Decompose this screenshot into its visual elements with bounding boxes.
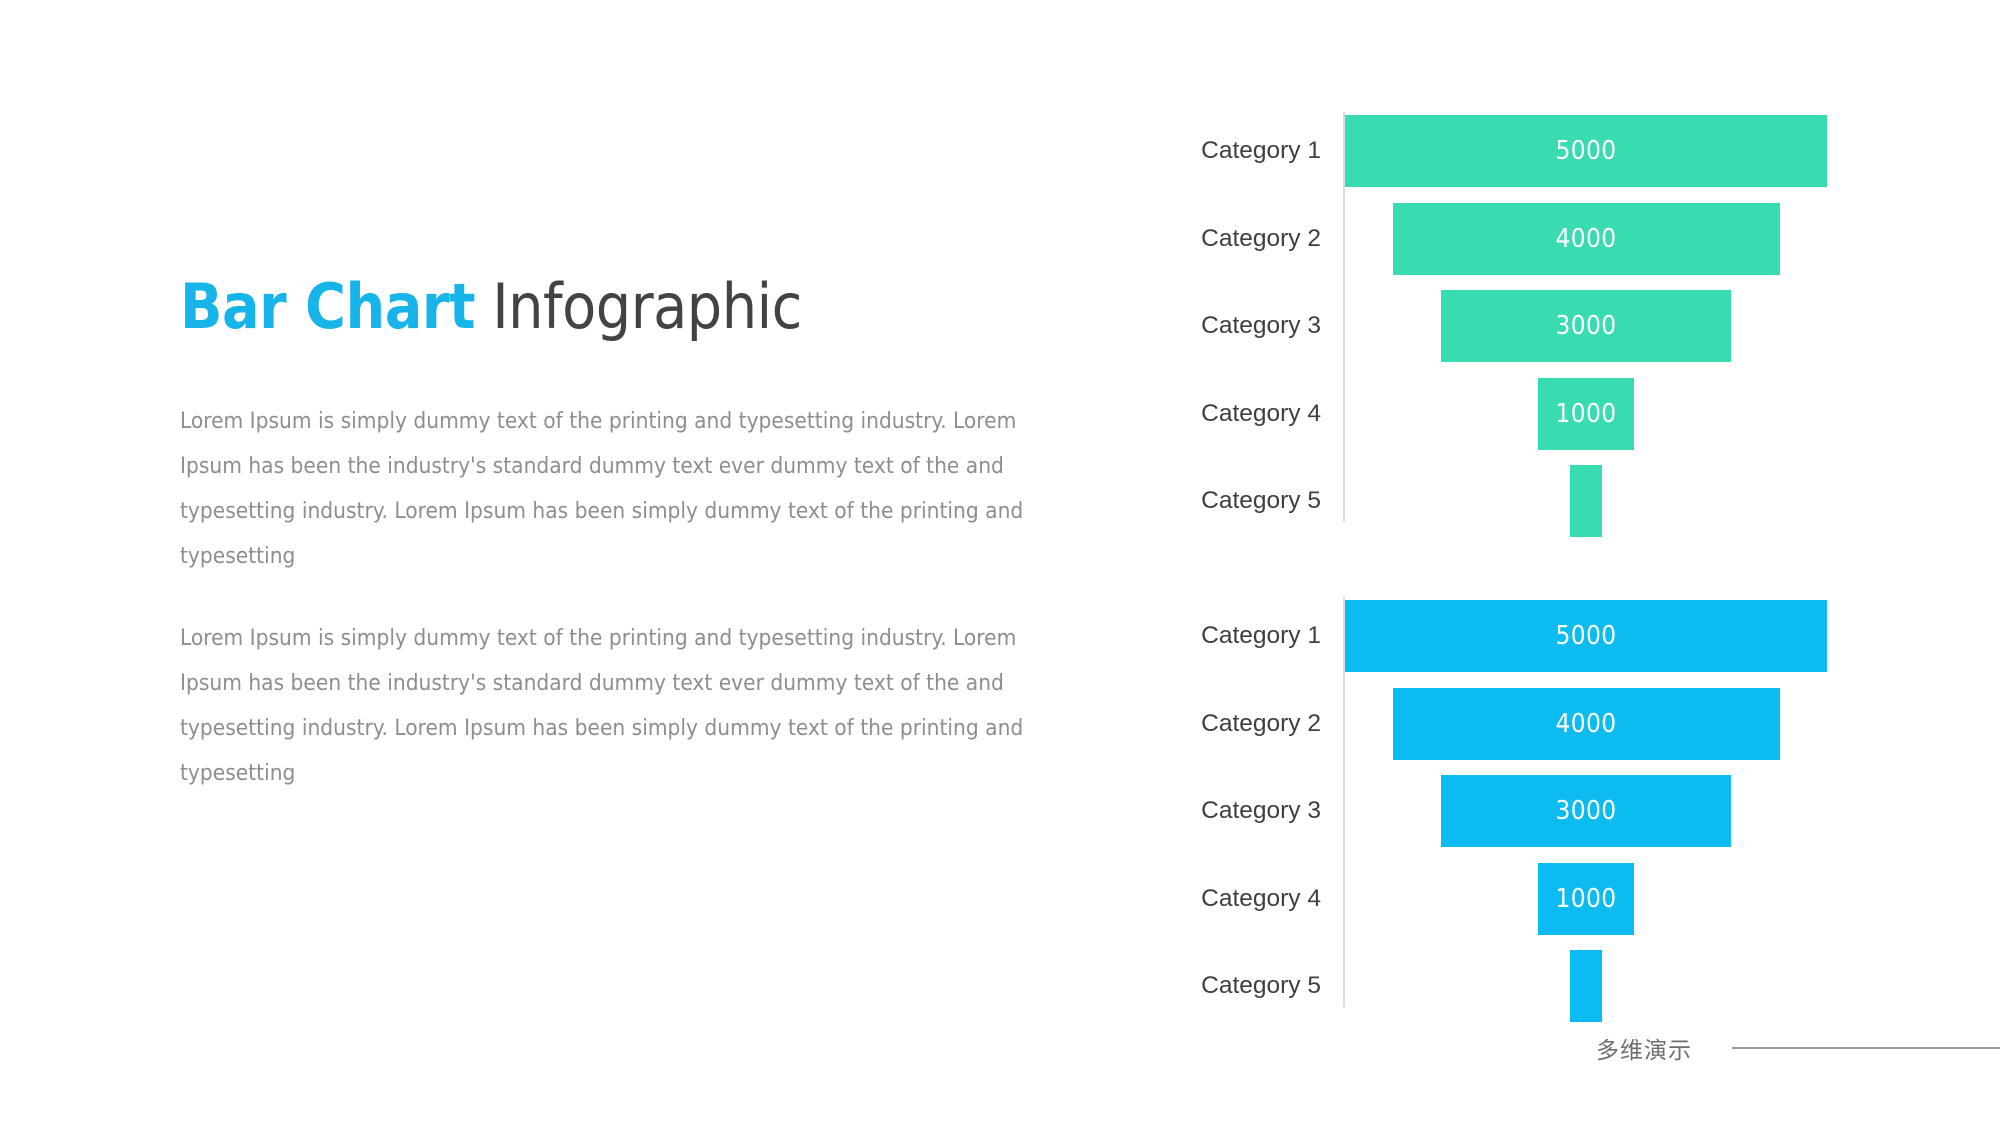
category-label: Category 2: [1195, 203, 1321, 275]
bar-segment[interactable]: 1000: [1538, 863, 1634, 935]
footer: 多维演示: [1596, 1031, 2000, 1065]
paragraph-2: Lorem Ipsum is simply dummy text of the …: [180, 616, 1060, 796]
paragraph-1: Lorem Ipsum is simply dummy text of the …: [180, 399, 1060, 579]
chart-row: Category 3 3000: [1195, 775, 1895, 847]
category-label: Category 5: [1195, 950, 1321, 1022]
page-title-rest: Infographic: [475, 270, 802, 343]
bar-wrapper: 4000: [1345, 688, 1827, 760]
chart-row: Category 1 5000: [1195, 600, 1895, 672]
bar-wrapper: 3000: [1345, 775, 1827, 847]
chart-row: Category 2 4000: [1195, 203, 1895, 275]
category-label: Category 4: [1195, 378, 1321, 450]
page-title: Bar Chart Infographic: [180, 272, 1110, 341]
bar-wrapper: 4000: [1345, 203, 1827, 275]
chart-row: Category 5: [1195, 465, 1895, 537]
bar-wrapper: 1000: [1345, 378, 1827, 450]
chart-row: Category 4 1000: [1195, 863, 1895, 935]
bar-track: 5000: [1345, 600, 1895, 672]
category-label: Category 4: [1195, 863, 1321, 935]
bar-segment[interactable]: 5000: [1345, 115, 1827, 187]
chart-row: Category 3 3000: [1195, 290, 1895, 362]
bar-segment[interactable]: [1570, 950, 1602, 1022]
footer-brand-text: 多维演示: [1596, 1031, 1692, 1065]
bar-segment[interactable]: [1570, 465, 1602, 537]
category-label: Category 5: [1195, 465, 1321, 537]
bar-segment[interactable]: 4000: [1393, 688, 1780, 760]
bar-wrapper: [1345, 465, 1827, 537]
bar-segment[interactable]: 5000: [1345, 600, 1827, 672]
bar-segment[interactable]: 4000: [1393, 203, 1780, 275]
body-copy: Lorem Ipsum is simply dummy text of the …: [180, 399, 1110, 796]
category-label: Category 3: [1195, 775, 1321, 847]
bar-wrapper: 5000: [1345, 600, 1827, 672]
chart-row: Category 5: [1195, 950, 1895, 1022]
bar-track: 1000: [1345, 378, 1895, 450]
bar-segment[interactable]: 3000: [1441, 290, 1731, 362]
bar-chart-green: Category 1 5000 Category 2 4000 Category…: [1195, 112, 1895, 522]
bar-wrapper: 5000: [1345, 115, 1827, 187]
bar-track: 4000: [1345, 688, 1895, 760]
bar-track: [1345, 950, 1895, 1022]
chart-plot-area: Category 1 5000 Category 2 4000 Category…: [1195, 597, 1895, 1007]
bar-track: [1345, 465, 1895, 537]
bar-chart-blue: Category 1 5000 Category 2 4000 Category…: [1195, 597, 1895, 1007]
chart-plot-area: Category 1 5000 Category 2 4000 Category…: [1195, 112, 1895, 522]
bar-wrapper: 1000: [1345, 863, 1827, 935]
chart-row: Category 4 1000: [1195, 378, 1895, 450]
bar-segment[interactable]: 1000: [1538, 378, 1634, 450]
footer-divider: [1732, 1047, 2000, 1048]
chart-row: Category 1 5000: [1195, 115, 1895, 187]
category-label: Category 2: [1195, 688, 1321, 760]
left-content-column: Bar Chart Infographic Lorem Ipsum is sim…: [180, 272, 1110, 796]
bar-wrapper: [1345, 950, 1827, 1022]
bar-track: 1000: [1345, 863, 1895, 935]
page-title-accent: Bar Chart: [180, 270, 475, 343]
slide-canvas: Bar Chart Infographic Lorem Ipsum is sim…: [0, 0, 2000, 1125]
bar-track: 3000: [1345, 290, 1895, 362]
category-label: Category 1: [1195, 600, 1321, 672]
category-label: Category 3: [1195, 290, 1321, 362]
bar-segment[interactable]: 3000: [1441, 775, 1731, 847]
bar-track: 4000: [1345, 203, 1895, 275]
category-label: Category 1: [1195, 115, 1321, 187]
bar-track: 3000: [1345, 775, 1895, 847]
bar-track: 5000: [1345, 115, 1895, 187]
chart-row: Category 2 4000: [1195, 688, 1895, 760]
bar-wrapper: 3000: [1345, 290, 1827, 362]
